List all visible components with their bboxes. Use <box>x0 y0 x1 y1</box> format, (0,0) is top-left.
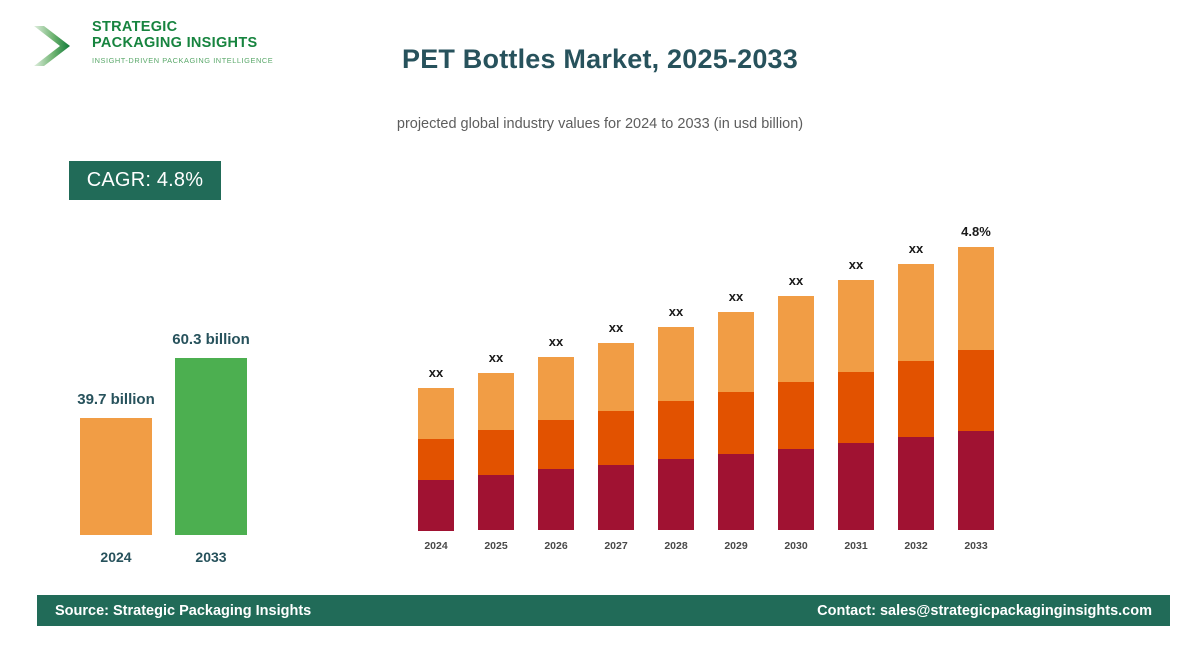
stacked-bar-value-label-2031: xx <box>821 257 891 272</box>
bar-segment-segment-2 <box>658 401 694 459</box>
stacked-bar-2033 <box>958 247 994 530</box>
stacked-bar-2029 <box>718 312 754 530</box>
bar-segment-segment-2 <box>898 361 934 437</box>
bar-segment-segment-3 <box>538 357 574 420</box>
stacked-bar-2028 <box>658 327 694 530</box>
bar-segment-segment-2 <box>478 430 514 475</box>
stacked-bar-year-label-2033: 2033 <box>956 540 996 552</box>
cagr-badge: CAGR: 4.8% <box>69 161 221 200</box>
stacked-bar-year-label-2031: 2031 <box>836 540 876 552</box>
stacked-bar-year-label-2025: 2025 <box>476 540 516 552</box>
stacked-bar-2030 <box>778 296 814 530</box>
comparison-value-label-2033: 60.3 billion <box>126 331 296 348</box>
bar-segment-segment-2 <box>598 411 634 465</box>
bar-fill <box>80 418 152 535</box>
stacked-bar-2031 <box>838 280 874 530</box>
bar-segment-segment-2 <box>718 392 754 454</box>
stacked-forecast-chart: xx2024xx2025xx2026xx2027xx2028xx2029xx20… <box>400 190 1040 560</box>
stacked-bar-2026 <box>538 357 574 530</box>
page-subtitle: projected global industry values for 202… <box>0 116 1200 132</box>
bar-segment-segment-3 <box>898 264 934 361</box>
infographic-canvas: STRATEGIC PACKAGING INSIGHTS INSIGHT-DRI… <box>0 0 1200 650</box>
bar-segment-segment-3 <box>778 296 814 382</box>
stacked-bar-year-label-2024: 2024 <box>416 540 456 552</box>
stacked-bar-value-label-2025: xx <box>461 350 531 365</box>
bar-segment-segment-3 <box>958 247 994 350</box>
stacked-bar-value-label-2033: 4.8% <box>941 224 1011 239</box>
footer-source: Source: Strategic Packaging Insights <box>55 603 311 619</box>
bar-segment-segment-2 <box>838 372 874 443</box>
bar-segment-segment-3 <box>658 327 694 401</box>
bar-segment-segment-1 <box>718 454 754 530</box>
comparison-bar-2024 <box>80 418 152 535</box>
bar-segment-segment-1 <box>898 437 934 530</box>
bar-segment-segment-1 <box>538 469 574 530</box>
bar-segment-segment-1 <box>838 443 874 530</box>
bar-fill <box>175 358 247 535</box>
bar-segment-segment-1 <box>598 465 634 530</box>
bar-segment-segment-1 <box>658 459 694 530</box>
bar-segment-segment-3 <box>838 280 874 372</box>
stacked-bar-value-label-2030: xx <box>761 273 831 288</box>
stacked-bar-year-label-2027: 2027 <box>596 540 636 552</box>
stacked-bar-year-label-2029: 2029 <box>716 540 756 552</box>
bar-segment-segment-3 <box>718 312 754 392</box>
stacked-bar-2027 <box>598 343 634 530</box>
stacked-bar-year-label-2030: 2030 <box>776 540 816 552</box>
stacked-bar-year-label-2032: 2032 <box>896 540 936 552</box>
logo-line-1: STRATEGIC <box>92 20 273 36</box>
bar-segment-segment-3 <box>418 388 454 439</box>
stacked-bar-year-label-2026: 2026 <box>536 540 576 552</box>
bar-segment-segment-1 <box>418 480 454 531</box>
bar-segment-segment-1 <box>778 449 814 530</box>
bar-segment-segment-2 <box>958 350 994 431</box>
bar-segment-segment-2 <box>418 439 454 480</box>
bar-segment-segment-2 <box>778 382 814 449</box>
stacked-bar-value-label-2032: xx <box>881 241 951 256</box>
stacked-bar-value-label-2026: xx <box>521 334 591 349</box>
comparison-bar-2033 <box>175 358 247 535</box>
bar-segment-segment-3 <box>598 343 634 411</box>
footer-contact: Contact: sales@strategicpackaginginsight… <box>817 603 1152 619</box>
comparison-year-label-2033: 2033 <box>175 549 247 565</box>
stacked-bar-value-label-2028: xx <box>641 304 711 319</box>
stacked-bar-year-label-2028: 2028 <box>656 540 696 552</box>
bar-segment-segment-2 <box>538 420 574 469</box>
stacked-bar-2032 <box>898 264 934 530</box>
comparison-chart: 39.7 billion202460.3 billion2033 <box>45 300 295 570</box>
bar-segment-segment-1 <box>478 475 514 530</box>
stacked-bar-value-label-2027: xx <box>581 320 651 335</box>
page-title: PET Bottles Market, 2025-2033 <box>0 44 1200 75</box>
stacked-bar-value-label-2024: xx <box>401 365 471 380</box>
comparison-year-label-2024: 2024 <box>80 549 152 565</box>
bar-segment-segment-1 <box>958 431 994 530</box>
stacked-bar-value-label-2029: xx <box>701 289 771 304</box>
stacked-bar-2024 <box>418 388 454 530</box>
bar-segment-segment-3 <box>478 373 514 430</box>
stacked-bar-2025 <box>478 373 514 530</box>
footer-bar: Source: Strategic Packaging Insights Con… <box>37 595 1170 626</box>
